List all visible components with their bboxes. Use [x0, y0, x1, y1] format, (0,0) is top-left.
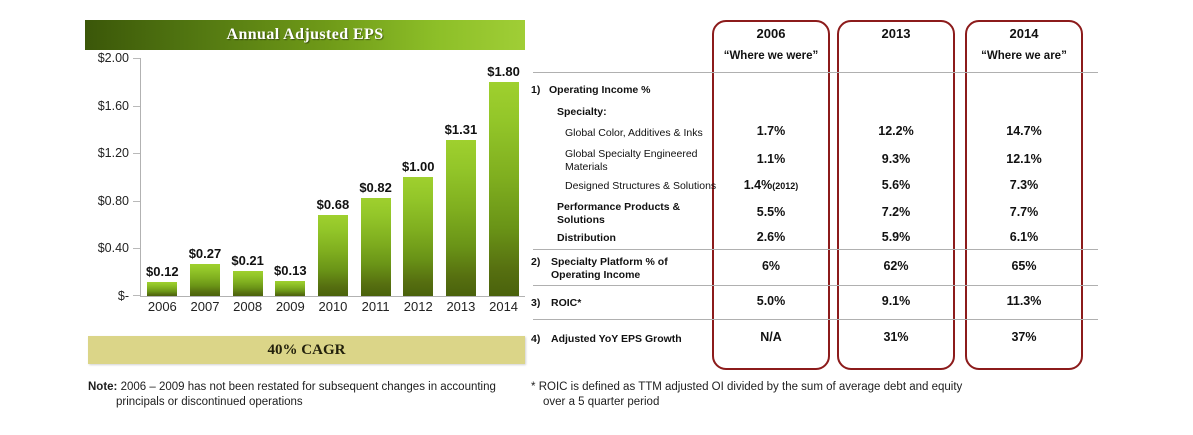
cell-2014-gsem: 12.1% — [965, 152, 1083, 166]
column-header-2014: 2014 “Where we are” — [965, 26, 1083, 62]
axis-tick — [133, 201, 140, 202]
bar-value-label: $1.00 — [402, 159, 435, 174]
chart-plot-area: $2.00 $1.60 $1.20 $0.80 $0.40 $- $0.12$0… — [85, 58, 525, 323]
bar — [446, 140, 476, 296]
x-axis-label: 2014 — [482, 299, 525, 321]
table-rule — [533, 72, 1098, 73]
y-tick-label: $2.00 — [98, 51, 129, 65]
cell-2014-specialty-platform: 65% — [965, 259, 1083, 273]
column-subtitle-label: “Where we were” — [712, 50, 830, 62]
specialty-subheading: Specialty: — [557, 106, 607, 119]
table-rule — [533, 319, 1098, 320]
cell-2014-eps-growth: 37% — [965, 330, 1083, 344]
bar-column: $0.21 — [226, 58, 269, 296]
bar-column: $1.80 — [482, 58, 525, 296]
x-axis-label: 2010 — [312, 299, 355, 321]
cell-2006-eps-growth: N/A — [712, 330, 830, 344]
bar — [275, 281, 305, 296]
x-axis: 200620072008200920102011201220132014 — [141, 299, 525, 321]
axis-tick — [133, 106, 140, 107]
bar-column: $0.13 — [269, 58, 312, 296]
bar-column: $0.68 — [312, 58, 355, 296]
row-label-performance-products-solutions: Performance Products & Solutions — [557, 201, 687, 226]
x-axis-label: 2012 — [397, 299, 440, 321]
chart-title: Annual Adjusted EPS — [227, 26, 384, 44]
cell-2014-pps: 7.7% — [965, 205, 1083, 219]
x-axis-label: 2013 — [440, 299, 483, 321]
section2-label-line2: Operating Income — [551, 269, 640, 282]
bar-value-label: $0.27 — [189, 246, 222, 261]
cagr-banner: 40% CAGR — [88, 336, 525, 364]
x-axis-label: 2006 — [141, 299, 184, 321]
x-axis-label: 2009 — [269, 299, 312, 321]
y-tick-label: $0.40 — [98, 241, 129, 255]
cell-2006-specialty-platform: 6% — [712, 259, 830, 273]
x-axis-label: 2011 — [354, 299, 397, 321]
cell-2006-distribution: 2.6% — [712, 230, 830, 244]
bar — [403, 177, 433, 296]
table-rule — [533, 285, 1098, 286]
y-tick-label: $- — [118, 289, 129, 303]
cell-2013-specialty-platform: 62% — [837, 259, 955, 273]
section3-number: 3) — [531, 297, 540, 310]
cell-2006-global-color: 1.7% — [712, 124, 830, 138]
section4-label: Adjusted YoY EPS Growth — [551, 333, 682, 346]
bar-column: $1.31 — [440, 58, 483, 296]
x-axis-line — [140, 296, 525, 297]
bar-column: $0.27 — [184, 58, 227, 296]
bar-value-label: $1.31 — [445, 122, 478, 137]
column-subtitle-label: “Where we are” — [965, 50, 1083, 62]
cagr-label: 40% CAGR — [268, 342, 346, 359]
cell-value-note: (2012) — [772, 181, 798, 191]
bar — [489, 82, 519, 296]
chart-title-banner: Annual Adjusted EPS — [85, 20, 525, 50]
bars-container: $0.12$0.27$0.21$0.13$0.68$0.82$1.00$1.31… — [141, 58, 525, 296]
axis-tick — [133, 153, 140, 154]
row-label-global-color-additives-inks: Global Color, Additives & Inks — [565, 127, 715, 140]
section2-number: 2) — [531, 256, 540, 269]
chart-note-line1: 2006 – 2009 has not been restated for su… — [121, 381, 496, 393]
section4-number: 4) — [531, 333, 540, 346]
bar-value-label: $0.82 — [359, 180, 392, 195]
metrics-table-panel: 2006 “Where we were” 2013 2014 “Where we… — [525, 0, 1193, 435]
cell-2013-distribution: 5.9% — [837, 230, 955, 244]
y-tick-label: $0.80 — [98, 194, 129, 208]
chart-panel: Annual Adjusted EPS $2.00 $1.60 $1.20 $0… — [0, 0, 530, 435]
bar-value-label: $0.13 — [274, 263, 307, 278]
bar-value-label: $1.80 — [487, 64, 520, 79]
footnote-line1: ROIC is defined as TTM adjusted OI divid… — [539, 381, 963, 393]
axis-tick — [133, 58, 140, 59]
chart-note: Note: 2006 – 2009 has not been restated … — [88, 380, 518, 410]
cell-2013-eps-growth: 31% — [837, 330, 955, 344]
section1-number: 1) — [531, 84, 540, 97]
chart-note-line2: principals or discontinued operations — [88, 395, 518, 410]
cell-2014-global-color: 14.7% — [965, 124, 1083, 138]
chart-note-lead: Note: — [88, 381, 117, 393]
cell-2013-global-color: 12.2% — [837, 124, 955, 138]
bar — [147, 282, 177, 296]
row-label-global-specialty-engineered-materials: Global Specialty Engineered Materials — [565, 148, 705, 173]
cell-2014-roic: 11.3% — [965, 294, 1083, 308]
bar-column: $0.82 — [354, 58, 397, 296]
cell-2013-dss: 5.6% — [837, 178, 955, 192]
bar — [318, 215, 348, 296]
bar-value-label: $0.21 — [231, 253, 264, 268]
y-tick-label: $1.20 — [98, 146, 129, 160]
cell-2014-dss: 7.3% — [965, 178, 1083, 192]
cell-2006-gsem: 1.1% — [712, 152, 830, 166]
y-tick-label: $1.60 — [98, 99, 129, 113]
cell-2006-dss: 1.4%(2012) — [712, 178, 830, 192]
cell-2006-pps: 5.5% — [712, 205, 830, 219]
footnote-marker: * — [531, 381, 535, 393]
cell-2006-roic: 5.0% — [712, 294, 830, 308]
bar — [361, 198, 391, 296]
bar — [190, 264, 220, 296]
section3-label: ROIC* — [551, 297, 581, 310]
axis-tick — [133, 248, 140, 249]
table-rule — [533, 249, 1098, 250]
bar — [233, 271, 263, 296]
bar-value-label: $0.12 — [146, 264, 179, 279]
cell-2013-gsem: 9.3% — [837, 152, 955, 166]
column-year-label: 2013 — [837, 26, 955, 41]
cell-value: 1.4% — [744, 178, 773, 192]
x-axis-label: 2007 — [184, 299, 227, 321]
section1-title: Operating Income % — [549, 84, 651, 97]
cell-value: 1.7% — [757, 124, 786, 138]
x-axis-label: 2008 — [226, 299, 269, 321]
cell-2013-pps: 7.2% — [837, 205, 955, 219]
y-axis-ticks — [133, 58, 140, 296]
roic-footnote: * ROIC is defined as TTM adjusted OI div… — [531, 380, 1001, 410]
column-year-label: 2014 — [965, 26, 1083, 41]
column-header-2006: 2006 “Where we were” — [712, 26, 830, 62]
bar-value-label: $0.68 — [317, 197, 350, 212]
y-axis: $2.00 $1.60 $1.20 $0.80 $0.40 $- — [85, 58, 133, 296]
column-year-label: 2006 — [712, 26, 830, 41]
section2-label-line1: Specialty Platform % of — [551, 256, 668, 269]
cell-2014-distribution: 6.1% — [965, 230, 1083, 244]
cell-2013-roic: 9.1% — [837, 294, 955, 308]
row-label-distribution: Distribution — [557, 232, 616, 245]
footnote-line2: over a 5 quarter period — [531, 395, 1001, 410]
column-header-2013: 2013 — [837, 26, 955, 50]
axis-tick — [133, 295, 140, 296]
bar-column: $0.12 — [141, 58, 184, 296]
bar-column: $1.00 — [397, 58, 440, 296]
